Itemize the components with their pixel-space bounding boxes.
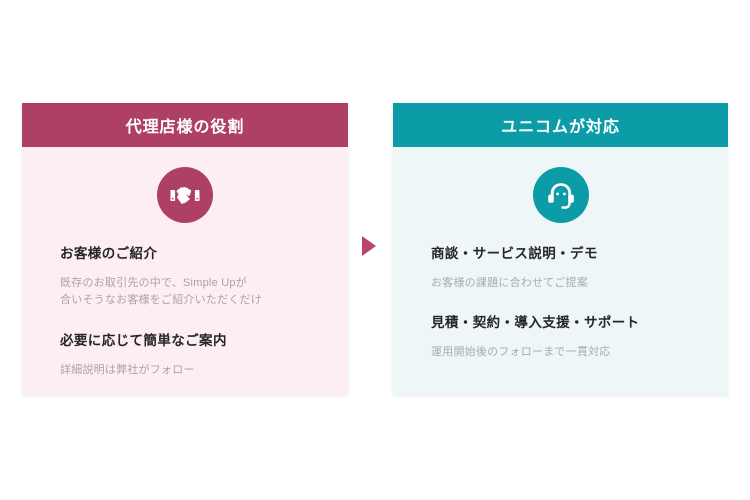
- panel-header-label: ユニコムが対応: [501, 113, 620, 137]
- panel-body-unicom-support: 商談・サービス説明・デモ お客様の課題に合わせてご提案 見積・契約・導入支援・サ…: [393, 167, 728, 362]
- block-unicom-2: 見積・契約・導入支援・サポート 運用開始後のフォローまで一貫対応: [411, 314, 710, 361]
- panel-unicom-support: ユニコムが対応: [393, 103, 728, 395]
- headset-icon: [545, 179, 577, 211]
- block-title: 見積・契約・導入支援・サポート: [431, 314, 710, 333]
- icon-container-agency: [40, 167, 330, 223]
- panel-header-label: 代理店様の役割: [126, 113, 245, 137]
- panel-body-agency-role: お客様のご紹介 既存のお取引先の中で、Simple Upが 合いそうなお客様をご…: [22, 167, 348, 380]
- panel-agency-role: 代理店様の役割: [22, 103, 348, 395]
- handshake-icon-badge: [157, 167, 213, 223]
- block-title: お客様のご紹介: [60, 245, 330, 264]
- panel-header-agency-role: 代理店様の役割: [22, 103, 348, 147]
- headset-icon-badge: [533, 167, 589, 223]
- block-title: 必要に応じて簡単なご案内: [60, 332, 330, 351]
- block-description: 既存のお取引先の中で、Simple Upが 合いそうなお客様をご紹介いただくだけ: [60, 275, 330, 310]
- block-agency-1: お客様のご紹介 既存のお取引先の中で、Simple Upが 合いそうなお客様をご…: [40, 245, 330, 310]
- panel-header-unicom-support: ユニコムが対応: [393, 103, 728, 147]
- block-description: お客様の課題に合わせてご提案: [431, 275, 710, 293]
- diagram-canvas: 代理店様の役割: [0, 0, 750, 500]
- block-agency-2: 必要に応じて簡単なご案内 詳細説明は弊社がフォロー: [40, 332, 330, 379]
- block-description: 運用開始後のフォローまで一貫対応: [431, 344, 710, 362]
- block-title: 商談・サービス説明・デモ: [431, 245, 710, 264]
- block-unicom-1: 商談・サービス説明・デモ お客様の課題に合わせてご提案: [411, 245, 710, 292]
- handshake-icon: [169, 179, 201, 211]
- block-description: 詳細説明は弊社がフォロー: [60, 362, 330, 380]
- flow-arrow-icon: [362, 236, 376, 256]
- icon-container-unicom: [411, 167, 710, 223]
